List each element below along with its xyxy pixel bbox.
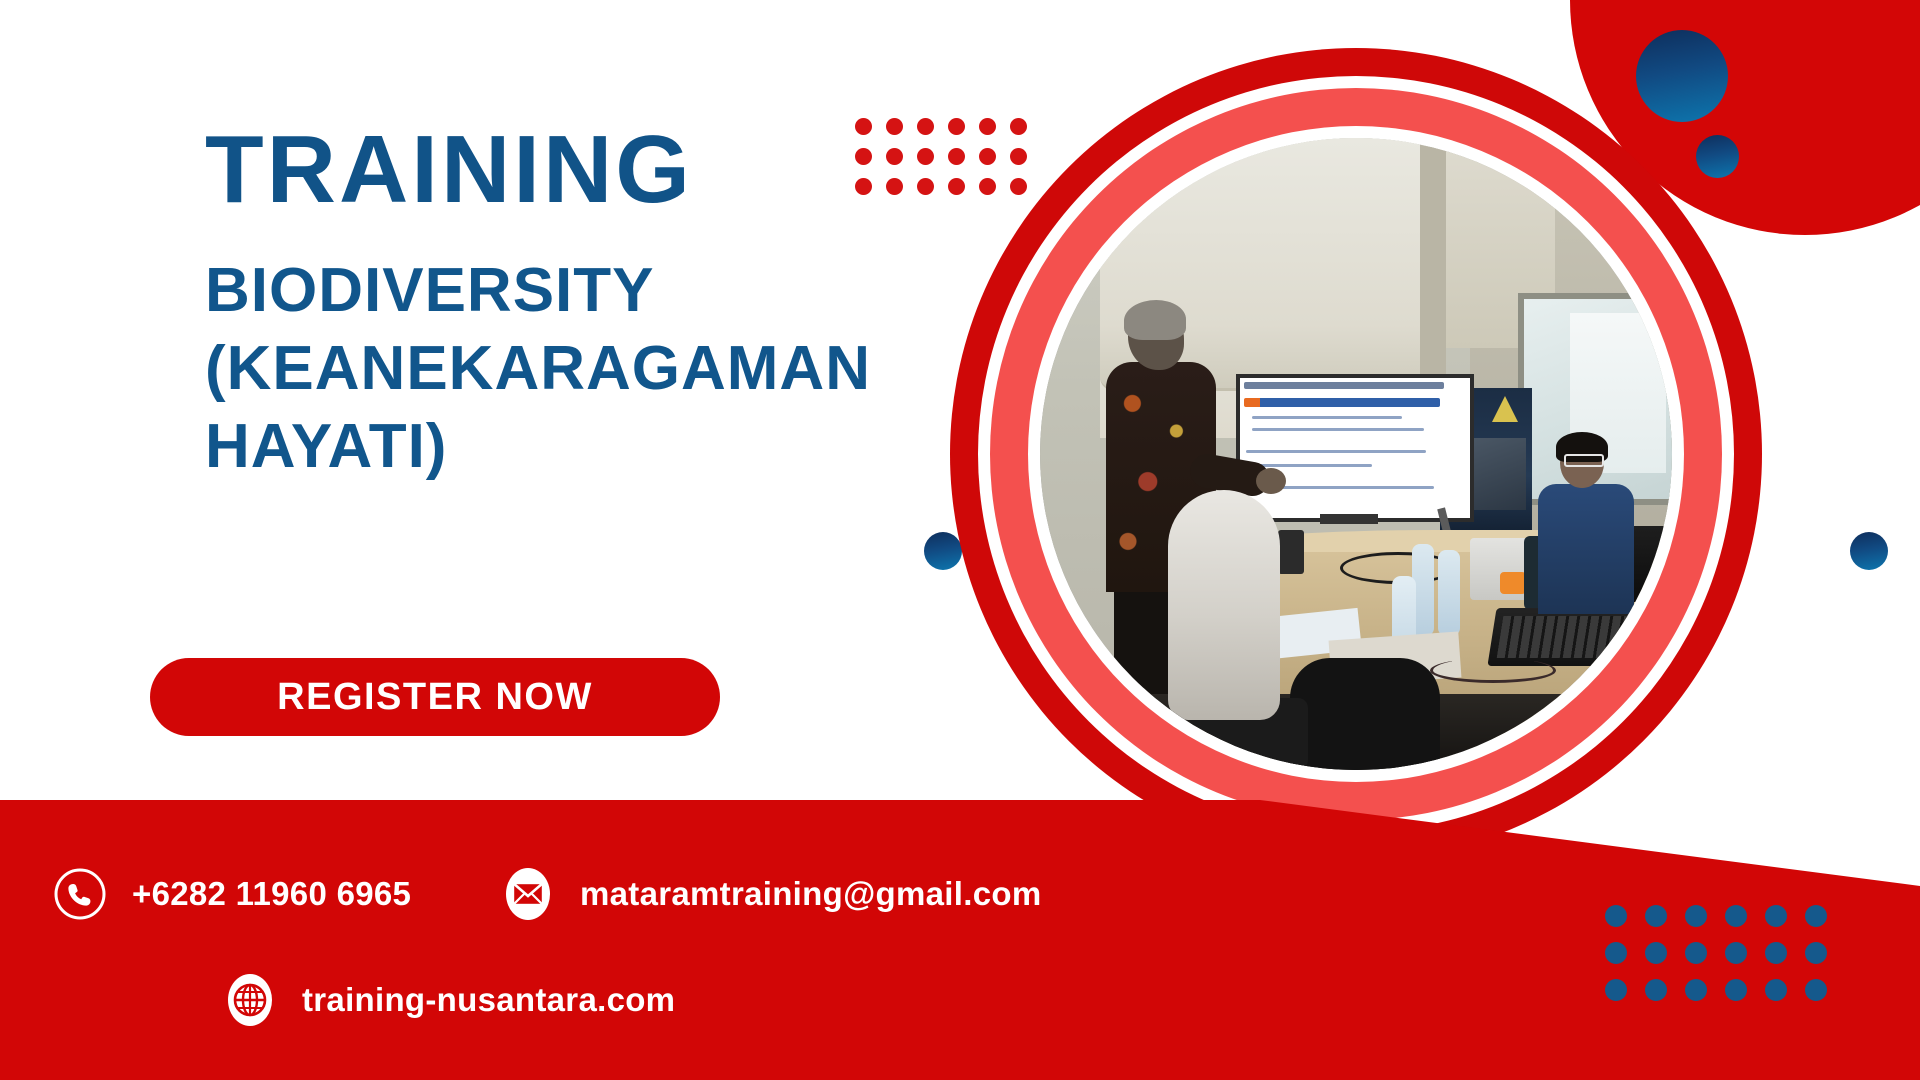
grid-dot xyxy=(1805,905,1827,927)
grid-dot xyxy=(1805,942,1827,964)
contact-phone[interactable]: +6282 11960 6965 xyxy=(52,866,411,922)
grid-dot xyxy=(1685,979,1707,1001)
grid-dot xyxy=(1765,905,1787,927)
envelope-icon xyxy=(500,866,556,922)
grid-dot xyxy=(1685,942,1707,964)
page-title-kicker: TRAINING xyxy=(205,122,1005,218)
training-session-photo xyxy=(1040,138,1672,770)
page-title-subject: BIODIVERSITY (KEANEKARAGAMAN HAYATI) xyxy=(205,252,985,486)
grid-dot xyxy=(1605,979,1627,1001)
grid-dot xyxy=(1765,942,1787,964)
grid-dot xyxy=(1685,905,1707,927)
register-now-button[interactable]: REGISTER NOW xyxy=(150,658,720,736)
globe-icon xyxy=(222,972,278,1028)
grid-dot xyxy=(1725,942,1747,964)
contact-website[interactable]: training-nusantara.com xyxy=(222,972,675,1028)
grid-dot xyxy=(1645,979,1667,1001)
headline-block: TRAINING BIODIVERSITY (KEANEKARAGAMAN HA… xyxy=(205,122,1005,486)
blue-dot-right-decoration xyxy=(1850,532,1888,570)
phone-icon xyxy=(52,866,108,922)
grid-dot xyxy=(1725,979,1747,1001)
contact-email[interactable]: mataramtraining@gmail.com xyxy=(500,866,1041,922)
grid-dot xyxy=(1805,979,1827,1001)
hero-photo-frame xyxy=(950,48,1762,860)
grid-dot xyxy=(1725,905,1747,927)
presentation-screen xyxy=(1236,374,1474,522)
contact-phone-label: +6282 11960 6965 xyxy=(132,875,411,913)
poster-canvas: TRAINING BIODIVERSITY (KEANEKARAGAMAN HA… xyxy=(0,0,1920,1080)
blue-dot-grid-decoration xyxy=(1605,905,1827,1001)
grid-dot xyxy=(1645,942,1667,964)
contact-website-label: training-nusantara.com xyxy=(302,981,675,1019)
grid-dot xyxy=(1645,905,1667,927)
grid-dot xyxy=(1765,979,1787,1001)
grid-dot xyxy=(1605,942,1627,964)
contact-email-label: mataramtraining@gmail.com xyxy=(580,875,1041,913)
grid-dot xyxy=(1605,905,1627,927)
